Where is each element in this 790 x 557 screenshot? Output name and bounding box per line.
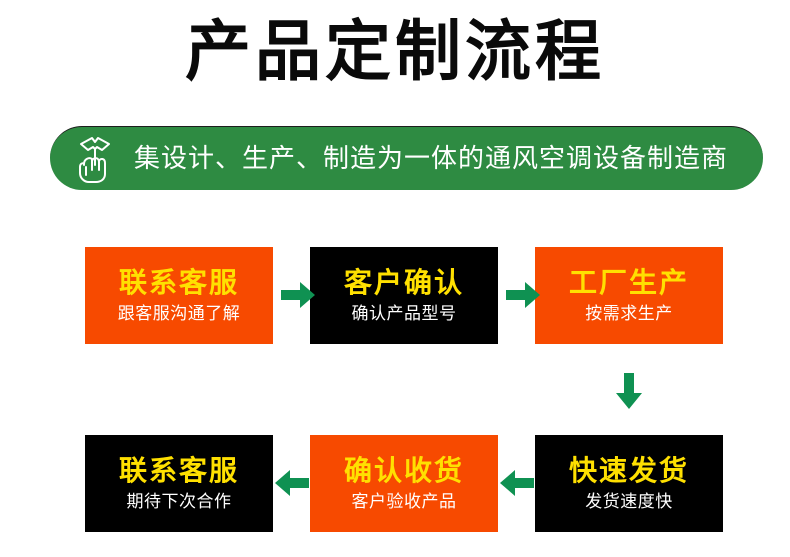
flow-step-confirm-receipt[interactable]: 确认收货 客户验收产品	[310, 435, 498, 532]
flow-step-subtitle: 按需求生产	[585, 303, 673, 325]
flow-step-subtitle: 跟客服沟通了解	[118, 303, 241, 325]
page-title: 产品定制流程	[0, 8, 790, 94]
flow-step-title: 工厂生产	[569, 266, 689, 300]
flow-step-title: 确认收货	[344, 454, 464, 488]
product-customization-flow-graphic: 产品定制流程 集设计、生产、制造为一体的通风空调设备制造商 联系客服	[0, 0, 790, 557]
flow-step-subtitle: 发货速度快	[585, 491, 673, 513]
arrow-left-icon	[274, 467, 310, 499]
flow-step-title: 客户确认	[344, 266, 464, 300]
flow-step-contact-again[interactable]: 联系客服 期待下次合作	[85, 435, 273, 532]
flow-step-customer-confirm[interactable]: 客户确认 确认产品型号	[310, 247, 498, 344]
flow-step-subtitle: 期待下次合作	[127, 491, 232, 513]
flow-step-factory-production[interactable]: 工厂生产 按需求生产	[535, 247, 723, 344]
flow-step-contact-service[interactable]: 联系客服 跟客服沟通了解	[85, 247, 273, 344]
arrow-right-icon	[280, 279, 316, 311]
tagline-text: 集设计、生产、制造为一体的通风空调设备制造商	[134, 144, 728, 174]
flow-step-subtitle: 客户验收产品	[352, 491, 457, 513]
arrow-down-icon	[613, 372, 645, 410]
arrow-right-icon	[505, 279, 541, 311]
flow-step-subtitle: 确认产品型号	[352, 303, 457, 325]
tagline-banner: 集设计、生产、制造为一体的通风空调设备制造商	[50, 126, 763, 190]
flow-step-title: 快速发货	[569, 454, 689, 488]
flow-step-fast-shipping[interactable]: 快速发货 发货速度快	[535, 435, 723, 532]
arrow-left-icon	[499, 467, 535, 499]
hand-holding-bulb-icon	[72, 134, 118, 184]
flow-step-title: 联系客服	[119, 454, 239, 488]
flow-step-title: 联系客服	[119, 266, 239, 300]
